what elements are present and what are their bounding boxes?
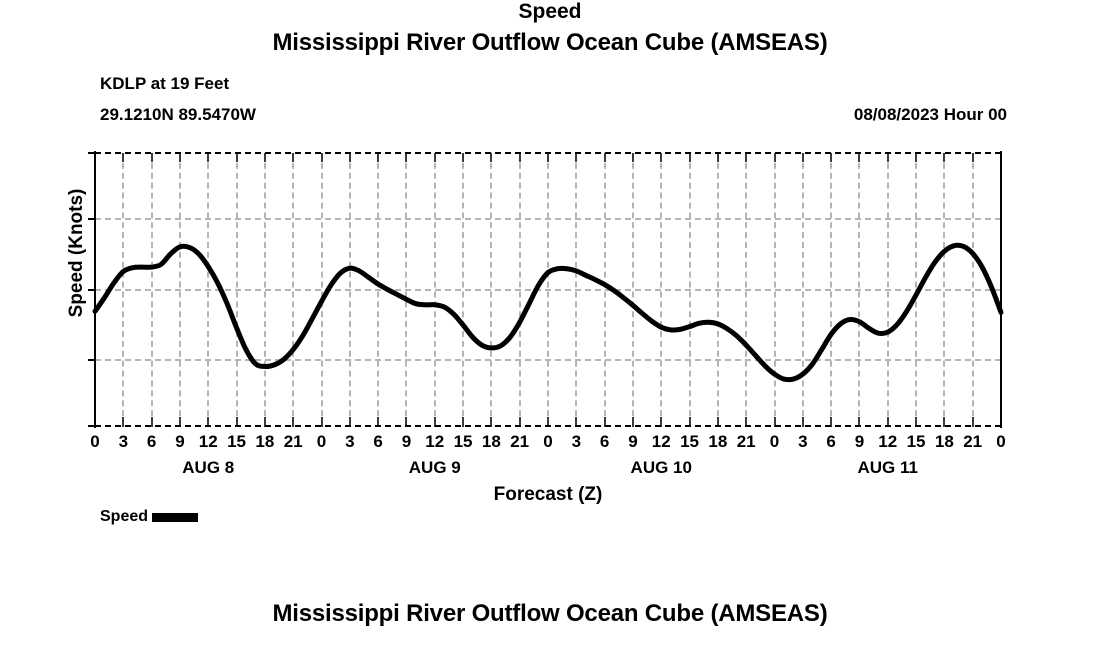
day-label: AUG 10 [631,458,692,478]
x-axis-tick-label: 18 [935,432,954,452]
x-axis-tick-label: 0 [317,432,326,452]
x-axis-tick-label: 21 [510,432,529,452]
x-axis-tick-label: 3 [345,432,354,452]
x-axis-tick-label: 21 [963,432,982,452]
legend-label: Speed [100,508,148,526]
x-axis-tick-label: 15 [454,432,473,452]
page-title-top: Mississippi River Outflow Ocean Cube (AM… [0,29,1100,57]
x-axis-tick-label: 3 [572,432,581,452]
day-label: AUG 9 [409,458,461,478]
station-label: KDLP at 19 Feet [100,74,229,94]
x-axis-tick-label: 3 [119,432,128,452]
x-axis-tick-label: 18 [708,432,727,452]
chart-page: Mississippi River Outflow Ocean Cube (AM… [0,0,1100,650]
x-axis-tick-label: 6 [826,432,835,452]
x-axis-tick-label: 21 [284,432,303,452]
x-axis-tick-label: 15 [680,432,699,452]
plot-area: Speed (Knots) 0.000.120.250.380.50 03691… [95,153,1001,426]
x-axis-tick-label: 0 [996,432,1005,452]
x-axis-tick-label: 12 [425,432,444,452]
x-axis-tick-label: 6 [373,432,382,452]
variable-label: Speed [0,0,1100,24]
x-axis-tick-label: 15 [907,432,926,452]
x-axis-tick-label: 9 [628,432,637,452]
legend: Speed [100,508,198,526]
x-axis-title: Forecast (Z) [494,484,603,506]
x-axis-tick-label: 15 [227,432,246,452]
x-axis-tick-label: 3 [798,432,807,452]
x-axis-tick-label: 12 [878,432,897,452]
y-axis-title: Speed (Knots) [66,189,88,318]
x-axis-tick-label: 9 [855,432,864,452]
x-axis-tick-label: 6 [147,432,156,452]
x-axis-tick-label: 18 [482,432,501,452]
x-axis-tick-label: 0 [770,432,779,452]
datetime-label: 08/08/2023 Hour 00 [854,105,1007,125]
speed-line-path [95,245,1001,379]
day-label: AUG 8 [182,458,234,478]
coordinates-label: 29.1210N 89.5470W [100,105,256,125]
x-axis-tick-label: 0 [543,432,552,452]
day-label: AUG 11 [858,458,918,478]
x-axis-tick-label: 12 [652,432,671,452]
x-axis-tick-label: 9 [402,432,411,452]
legend-color-swatch [152,513,198,522]
x-axis-tick-label: 9 [175,432,184,452]
x-axis-tick-label: 18 [255,432,274,452]
speed-series-line [95,153,1001,426]
x-axis-tick-label: 6 [600,432,609,452]
x-axis-tick-label: 0 [90,432,99,452]
x-axis-tick-label: 21 [737,432,756,452]
x-axis-tick-label: 12 [199,432,218,452]
page-title-bottom: Mississippi River Outflow Ocean Cube (AM… [0,600,1100,628]
